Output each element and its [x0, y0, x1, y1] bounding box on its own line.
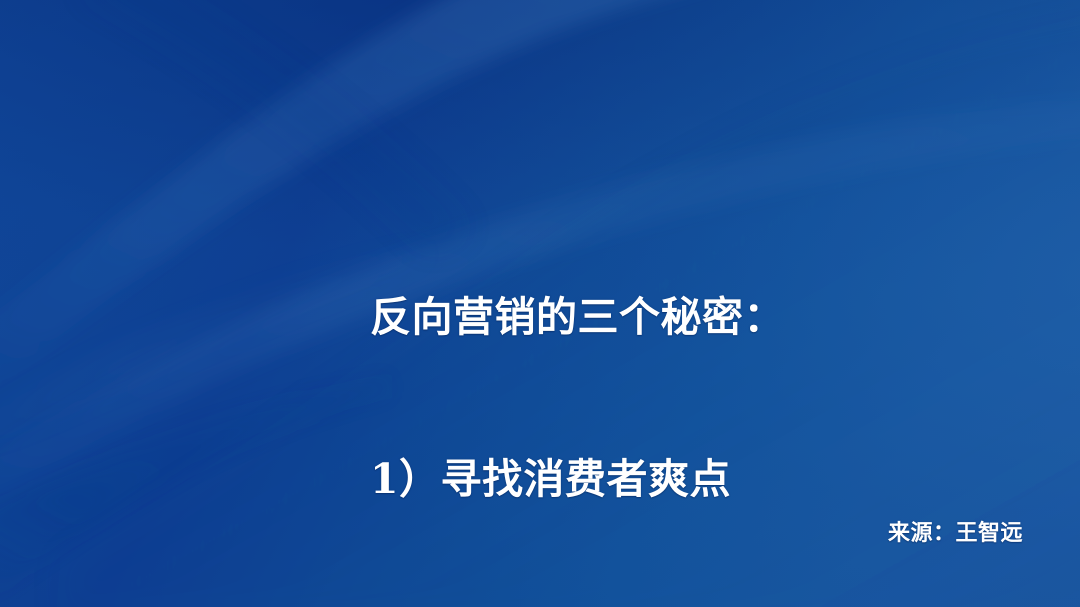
headline-line-2: 1）寻找消费者爽点	[370, 452, 1030, 506]
presentation-slide: 反向营销的三个秘密： 1）寻找消费者爽点 2）改变视听锤 3）对梗二次创作 来源…	[0, 0, 1080, 607]
source-attribution: 来源：王智远	[888, 518, 1023, 548]
headline-line-1: 反向营销的三个秘密：	[370, 290, 1030, 344]
